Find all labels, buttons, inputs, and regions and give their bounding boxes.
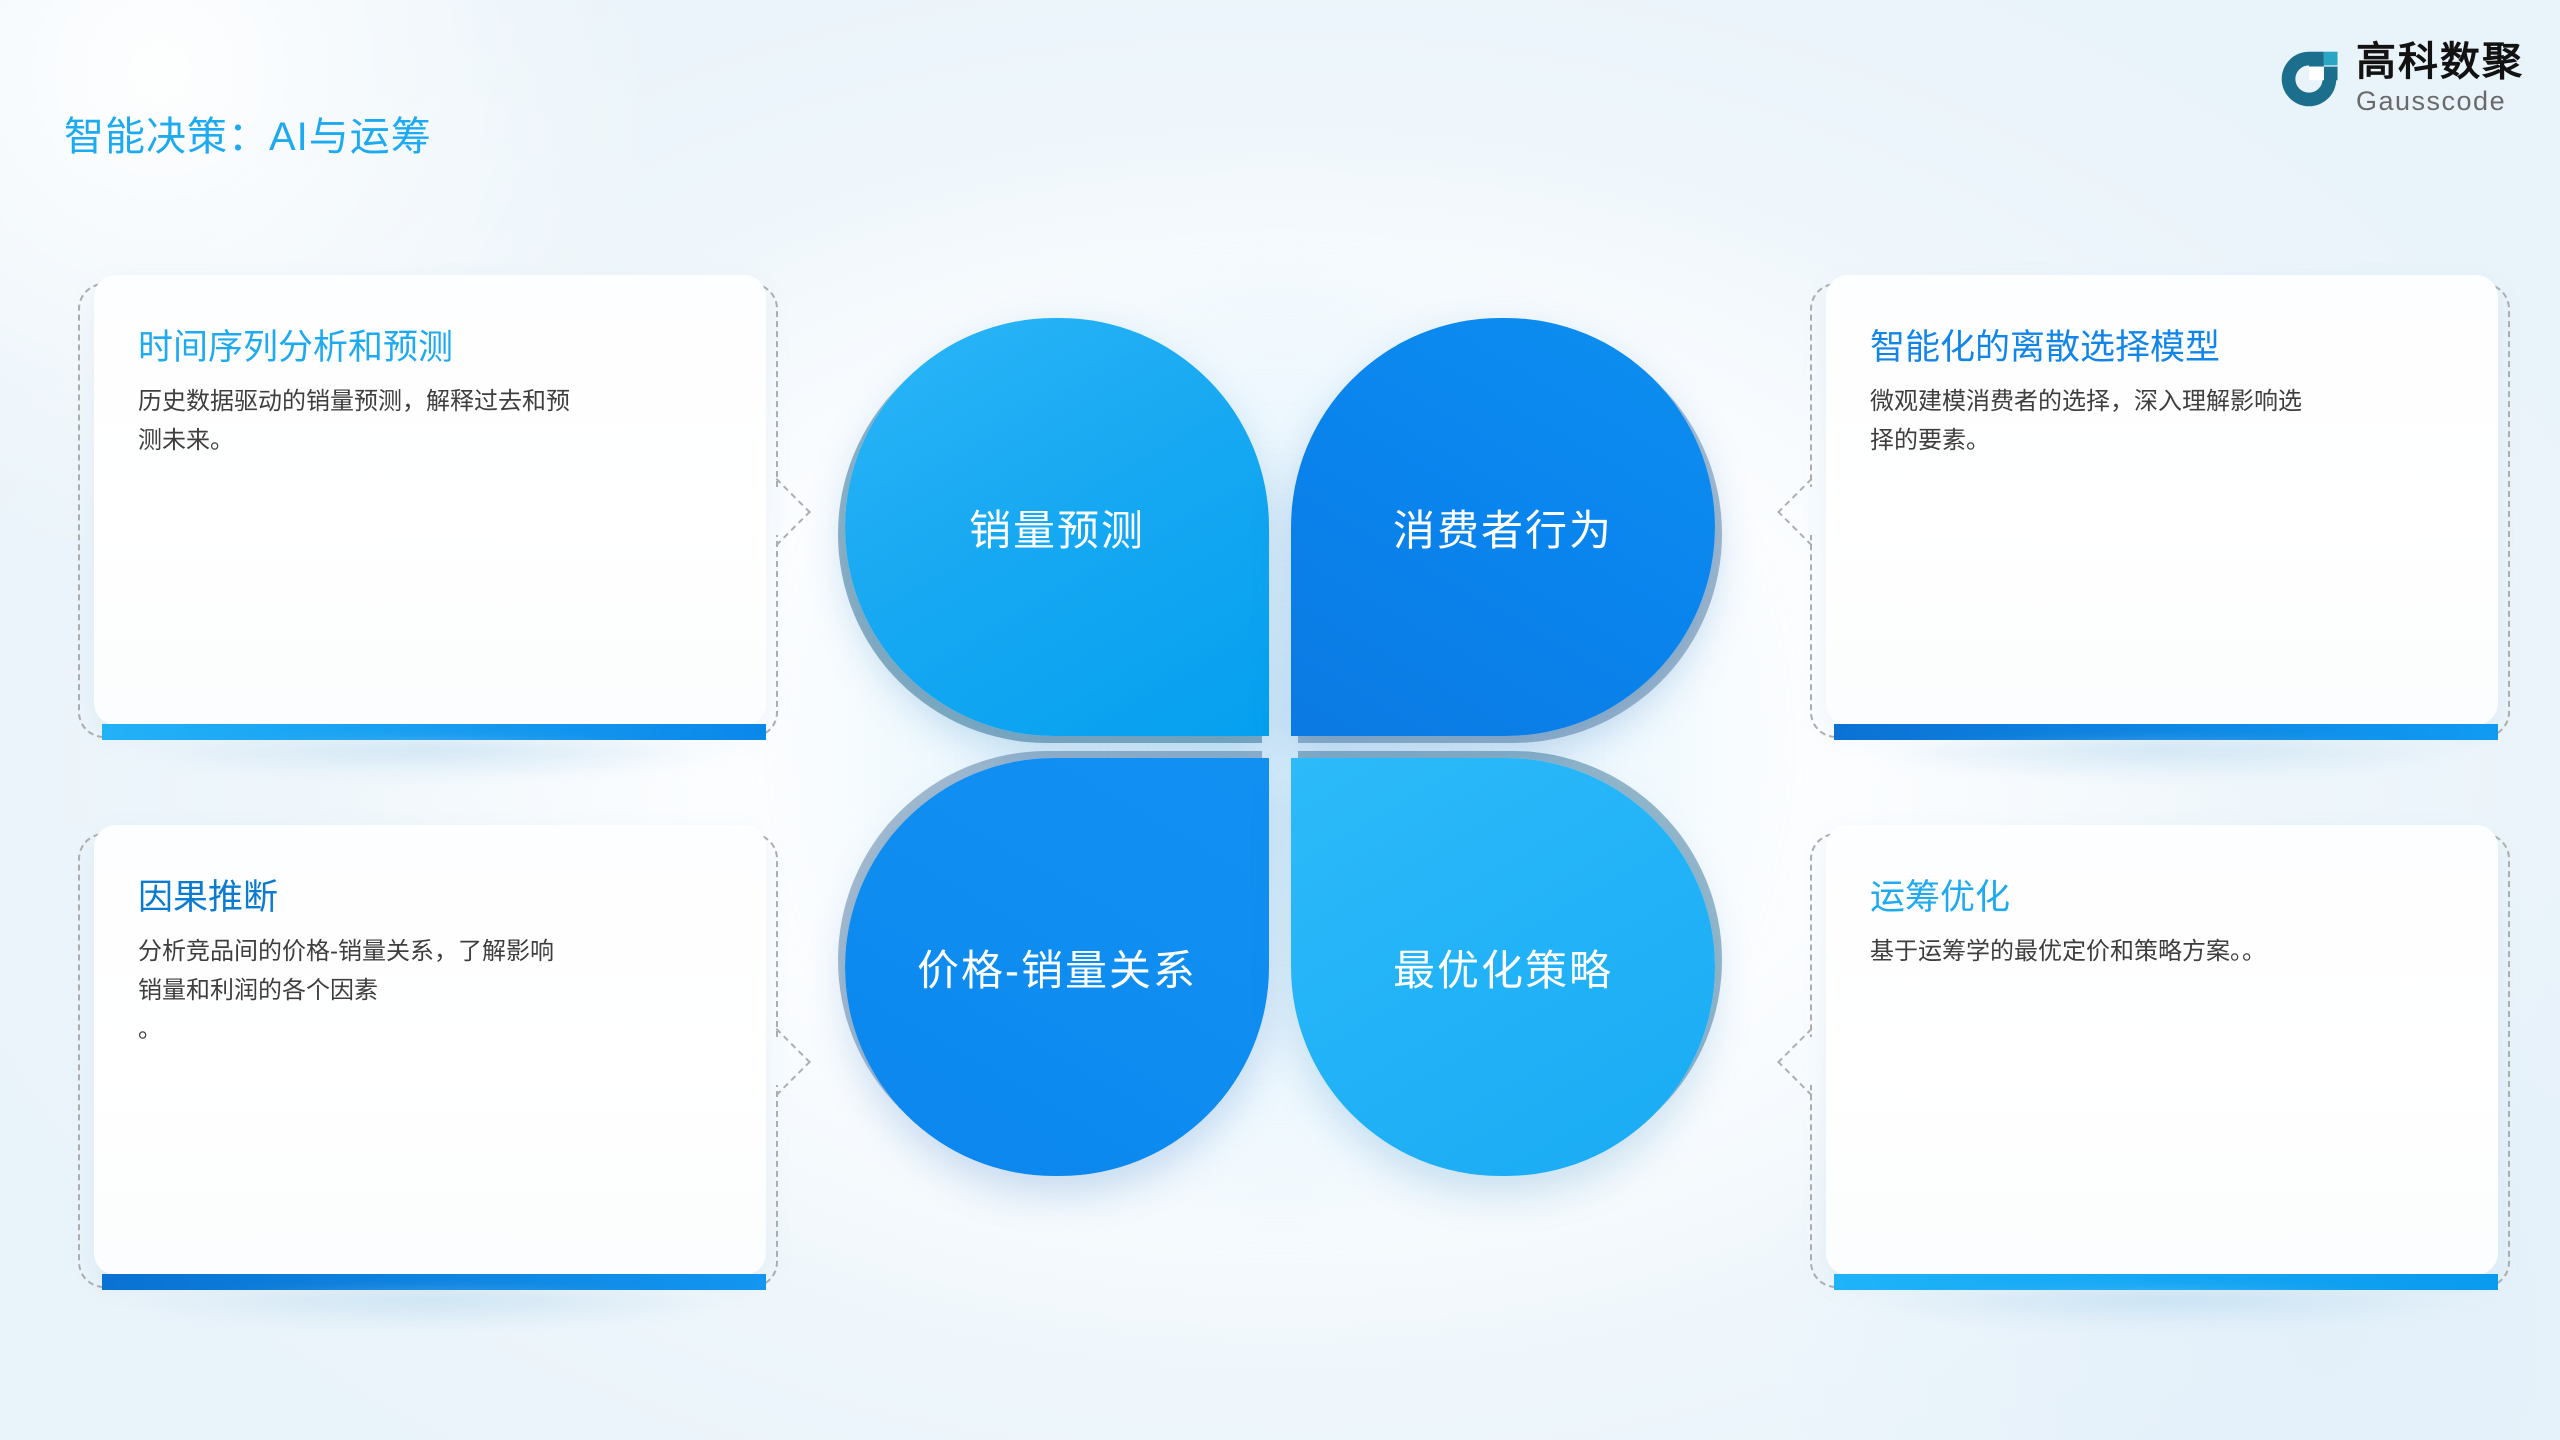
petal-label: 最优化策略	[1393, 937, 1613, 998]
brand-logo-text: 高科数聚 Gausscode	[2356, 42, 2524, 115]
info-card-accent-bar	[102, 724, 766, 740]
center-flower-diagram: 销量预测 消费者行为 价格-销量关系 最优化策略	[845, 318, 1715, 1176]
petal-consumer-behavior[interactable]: 消费者行为	[1291, 318, 1715, 736]
info-card-operations-research[interactable]: 运筹优化 基于运筹学的最优定价和策略方案。。	[1810, 833, 2510, 1288]
info-card-title: 因果推断	[138, 877, 722, 919]
info-card-body-panel: 运筹优化 基于运筹学的最优定价和策略方案。。	[1826, 825, 2498, 1275]
info-card-shadow-glow	[1854, 1290, 2474, 1330]
info-card-body-panel: 因果推断 分析竞品间的价格-销量关系，了解影响 销量和利润的各个因素 。	[94, 825, 766, 1275]
petal-sales-forecast[interactable]: 销量预测	[845, 318, 1269, 736]
petal-optimal-strategy[interactable]: 最优化策略	[1291, 758, 1715, 1176]
info-card-body-panel: 时间序列分析和预测 历史数据驱动的销量预测，解释过去和预 测未来。	[94, 275, 766, 725]
info-card-accent-bar	[1834, 1274, 2498, 1290]
info-card-title: 智能化的离散选择模型	[1870, 327, 2454, 369]
petal-label: 消费者行为	[1393, 497, 1613, 558]
info-card-body-panel: 智能化的离散选择模型 微观建模消费者的选择，深入理解影响选 择的要素。	[1826, 275, 2498, 725]
petal-label: 销量预测	[969, 497, 1145, 558]
petal-label: 价格-销量关系	[917, 937, 1197, 998]
gausscode-logo-icon	[2278, 48, 2340, 110]
info-card-description: 微观建模消费者的选择，深入理解影响选 择的要素。	[1870, 383, 2454, 461]
info-card-discrete-choice[interactable]: 智能化的离散选择模型 微观建模消费者的选择，深入理解影响选 择的要素。	[1810, 283, 2510, 738]
page-title: 智能决策：AI与运筹	[64, 104, 432, 162]
info-card-description: 基于运筹学的最优定价和策略方案。。	[1870, 933, 2454, 972]
info-card-title: 运筹优化	[1870, 877, 2454, 919]
info-card-accent-bar	[1834, 724, 2498, 740]
info-card-shadow-glow	[122, 1290, 742, 1330]
info-card-description: 分析竞品间的价格-销量关系，了解影响 销量和利润的各个因素 。	[138, 933, 722, 1050]
info-card-causal-inference[interactable]: 因果推断 分析竞品间的价格-销量关系，了解影响 销量和利润的各个因素 。	[78, 833, 778, 1288]
slide-canvas: 智能决策：AI与运筹 高科数聚 Gausscode 销量预测 消费者行为 价格-…	[0, 0, 2560, 1440]
brand-name-cn: 高科数聚	[2356, 42, 2524, 82]
info-card-time-series[interactable]: 时间序列分析和预测 历史数据驱动的销量预测，解释过去和预 测未来。	[78, 283, 778, 738]
info-card-description: 历史数据驱动的销量预测，解释过去和预 测未来。	[138, 383, 722, 461]
info-card-shadow-glow	[1854, 740, 2474, 780]
brand-name-en: Gausscode	[2356, 88, 2524, 115]
info-card-shadow-glow	[122, 740, 742, 780]
brand-logo: 高科数聚 Gausscode	[2278, 42, 2524, 115]
info-card-title: 时间序列分析和预测	[138, 327, 722, 369]
info-card-accent-bar	[102, 1274, 766, 1290]
petal-price-sales-relation[interactable]: 价格-销量关系	[845, 758, 1269, 1176]
